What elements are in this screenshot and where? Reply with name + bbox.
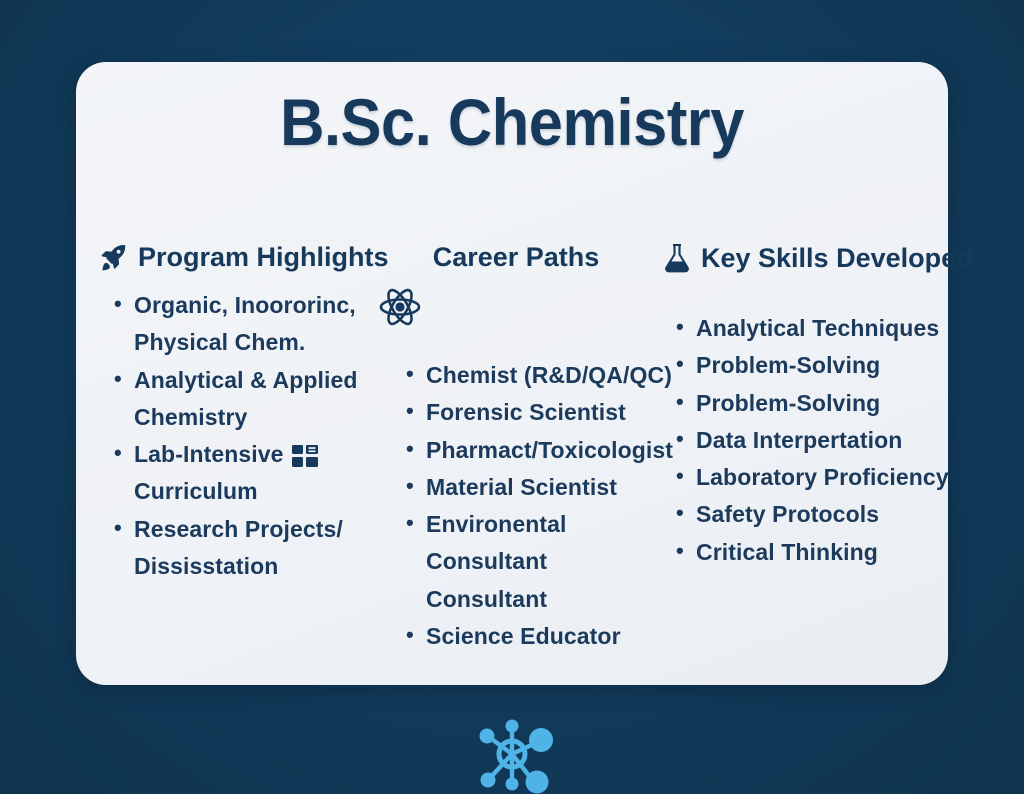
list-item-label: Forensic Scientist: [426, 399, 626, 425]
list-item: Data Interpertation: [670, 422, 970, 459]
column-program-highlights: Program Highlights Organic, Inoororinc, …: [86, 242, 376, 585]
list-item: Material Scientist: [400, 469, 668, 506]
key-skills-heading: Key Skills Developed: [656, 242, 956, 274]
list-item-label: Material Scientist: [426, 474, 617, 500]
list-item-label: Analytical Techniques: [696, 315, 939, 341]
career-paths-heading: Career Paths: [376, 242, 656, 273]
list-item: Organic, Inoororinc, Physical Chem.: [108, 287, 358, 362]
list-item-label: Organic, Inoororinc, Physical Chem.: [134, 292, 356, 355]
list-item: Analytical & Applied Chemistry: [108, 362, 358, 437]
program-highlights-heading: Program Highlights: [86, 242, 376, 273]
list-item: Science Educator: [400, 618, 668, 655]
key-skills-list: Analytical Techniques Problem-Solving Pr…: [670, 310, 970, 571]
list-item-label: Lab-Intensive: [134, 441, 284, 467]
list-item: Forensic Scientist: [400, 394, 668, 431]
molecule-icon: [462, 712, 562, 794]
list-item-label: Data Interpertation: [696, 427, 902, 453]
dashboard-grid-icon: [292, 445, 318, 467]
list-item: Laboratory Proficiency: [670, 459, 970, 496]
list-item: Problem-Solving: [670, 385, 970, 422]
list-item: Critical Thinking: [670, 534, 970, 571]
page-title: B.Sc. Chemistry: [107, 88, 918, 157]
column-career-paths: Career Paths Chemist (R&D/QA/QC) Forensi…: [376, 242, 656, 655]
list-item: Safety Protocols: [670, 496, 970, 533]
list-item-label: Environental Consultant Consultant: [426, 511, 567, 612]
list-item-label-continued: Curriculum: [134, 478, 258, 504]
list-item: Chemist (R&D/QA/QC): [400, 357, 668, 394]
program-highlights-list: Organic, Inoororinc, Physical Chem. Anal…: [108, 287, 358, 585]
list-item-label: Problem-Solving: [696, 352, 880, 378]
list-item-label: Science Educator: [426, 623, 621, 649]
list-item: Environental Consultant Consultant: [400, 506, 668, 618]
list-item-label: Laboratory Proficiency: [696, 464, 949, 490]
flask-icon: [662, 242, 692, 274]
rocket-icon: [98, 242, 129, 273]
list-item: Pharmact/Toxicologist: [400, 432, 668, 469]
column-key-skills: Key Skills Developed Analytical Techniqu…: [656, 242, 956, 571]
list-item: Research Projects/ Dississtation: [108, 511, 358, 586]
program-highlights-heading-label: Program Highlights: [138, 242, 389, 273]
list-item: Analytical Techniques: [670, 310, 970, 347]
list-item-label: Research Projects/ Dississtation: [134, 516, 343, 579]
list-item-label: Critical Thinking: [696, 539, 878, 565]
list-item-label: Pharmact/Toxicologist: [426, 437, 673, 463]
list-item-label: Analytical & Applied Chemistry: [134, 367, 358, 430]
poster-canvas: B.Sc. Chemistry Program Highlights Organ…: [0, 0, 1024, 794]
list-item: Lab-Intensive Curriculum: [108, 436, 358, 511]
content-card: B.Sc. Chemistry Program Highlights Organ…: [76, 62, 948, 685]
career-paths-heading-label: Career Paths: [433, 242, 600, 273]
atom-icon: [378, 285, 656, 329]
list-item-label: Chemist (R&D/QA/QC): [426, 362, 672, 388]
list-item-label: Safety Protocols: [696, 501, 879, 527]
list-item: Problem-Solving: [670, 347, 970, 384]
list-item-label: Problem-Solving: [696, 390, 880, 416]
key-skills-heading-label: Key Skills Developed: [701, 243, 973, 274]
career-paths-list: Chemist (R&D/QA/QC) Forensic Scientist P…: [400, 357, 668, 655]
